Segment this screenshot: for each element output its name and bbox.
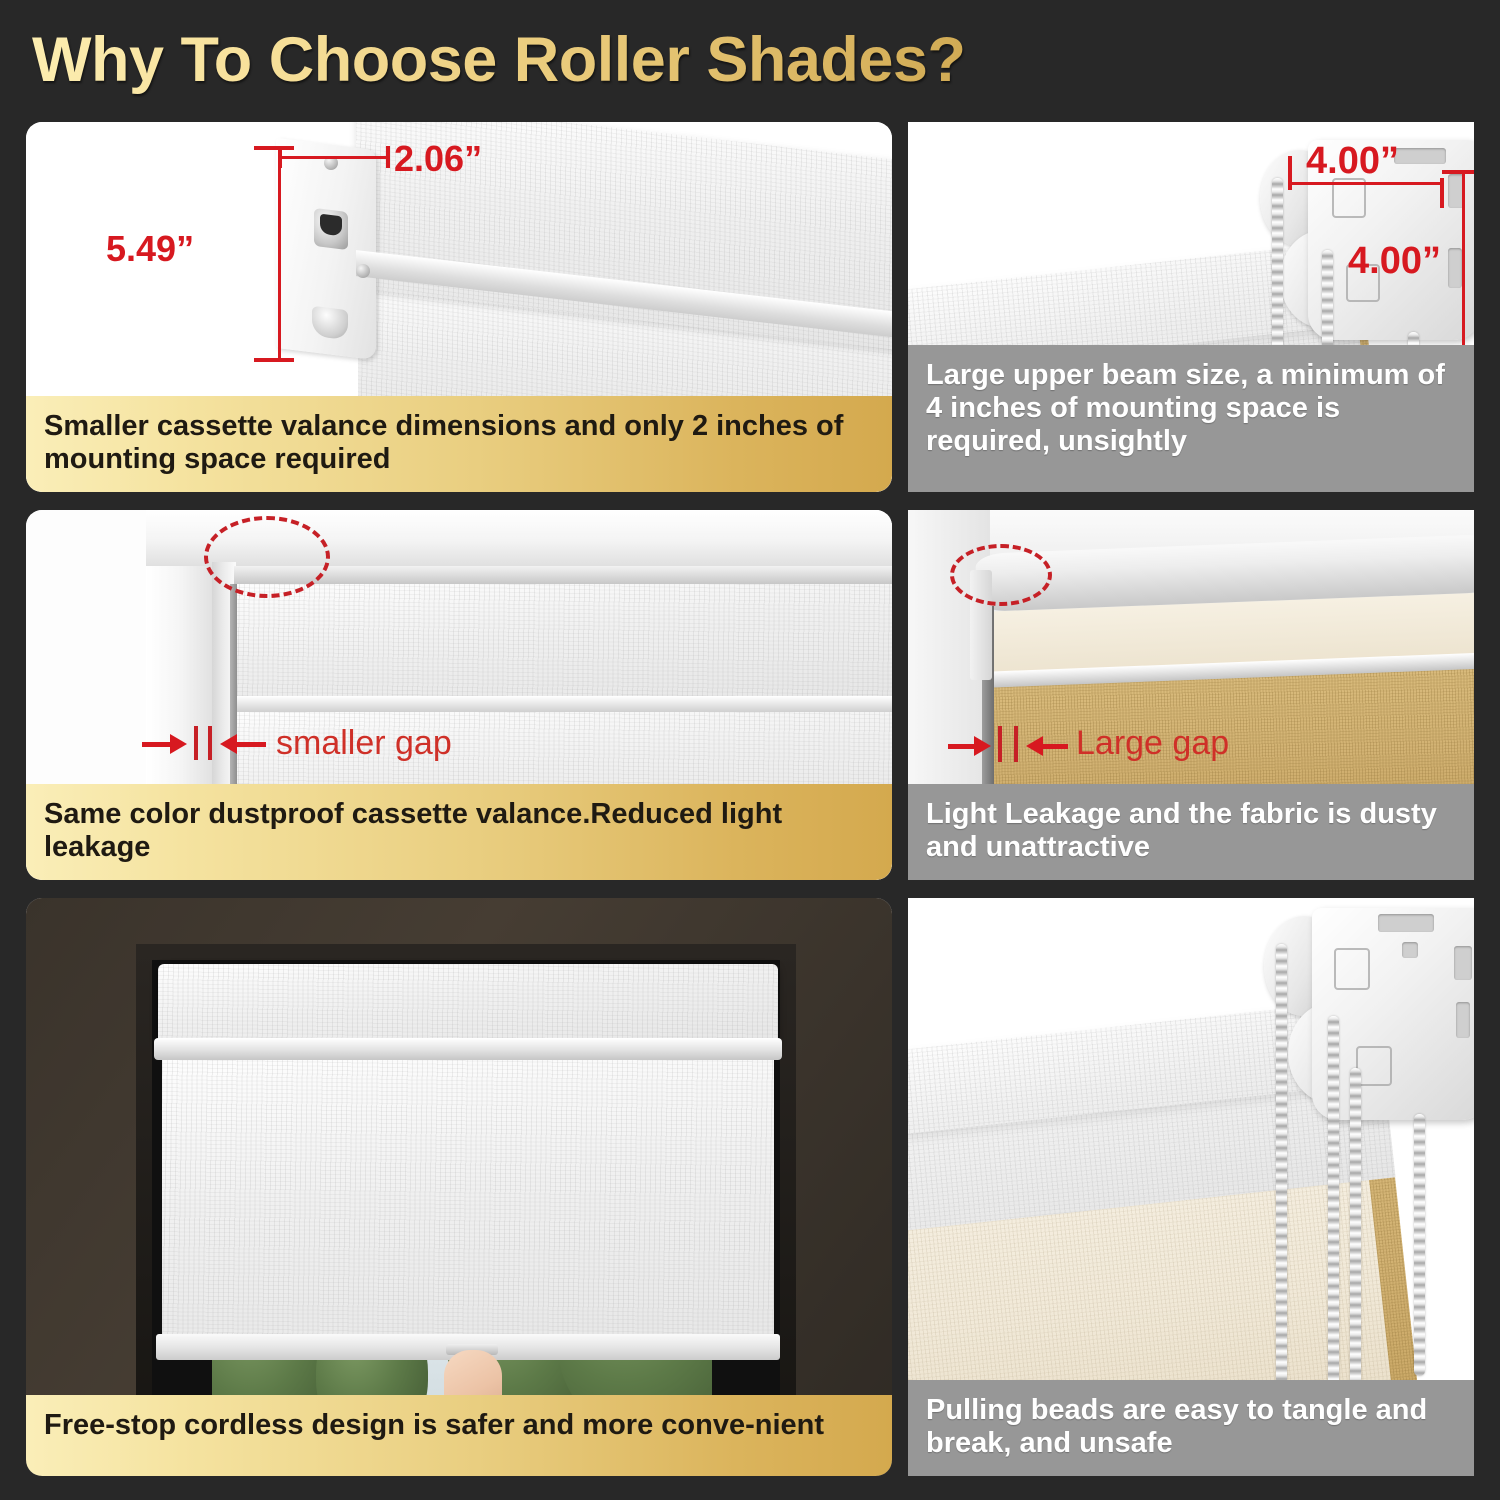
gap-arrow-right-tail [236,742,266,747]
hanging-bead-chain-1 [1276,944,1287,1384]
chain-bracket-slot-mid [1402,942,1418,958]
comparison-grid: 2.06” 5.49” Smaller cassette valance dim… [0,0,1500,1500]
roller-shade-fabric [162,1060,774,1356]
panel-1-caption: Smaller cassette valance dimensions and … [26,396,892,492]
height-dimension-label: 5.49” [106,228,194,270]
beam-width-label: 4.00” [1306,140,1399,183]
chain-bracket-emboss-upper [1334,948,1370,990]
bracket-slot-top [1394,148,1446,164]
beam-height-cap-top [1442,170,1474,174]
gap-tick-right [208,726,212,760]
beam-width-cap-right [1440,178,1444,208]
hanging-bead-chain-4 [1414,1114,1425,1376]
cassette-screw-mid [356,264,370,278]
gap-tick-left [194,726,198,760]
infographic-root: Why To Choose Roller Shades? 2.06” [0,0,1500,1500]
panel-small-gap: smaller gap Same color dustproof cassett… [26,510,892,880]
width-dimension-label: 2.06” [394,138,482,180]
bracket-slot-lower [1448,248,1462,288]
gap-arrow-right-head [220,734,237,754]
panel-2-caption: Large upper beam size, a minimum of 4 in… [908,345,1474,492]
gap-arrow-left-head [170,734,187,754]
panel-small-cassette: 2.06” 5.49” Smaller cassette valance dim… [26,122,892,492]
hanging-bead-chain-3 [1350,1068,1361,1388]
large-gap-label: Large gap [1076,724,1229,763]
large-gap-arrow-right-head [1026,736,1043,756]
beam-height-label: 4.00” [1348,240,1441,283]
panel-large-gap: Large gap Light Leakage and the fabric i… [908,510,1474,880]
height-dim-cap-bottom [254,358,294,362]
chain-bracket-emboss-lower [1356,1046,1392,1086]
large-gap-tick-right [1014,726,1018,762]
panel-cordless-room: Free-stop cordless design is safer and m… [26,898,892,1476]
shade-mid-rail [234,696,892,712]
cassette-valance [158,964,778,1044]
chain-bracket-slot-top [1378,914,1434,932]
valance-lip [154,1038,782,1060]
cassette-clutch-knob [314,208,348,250]
panel-large-beam: 4.00” 4.00” Large upper beam size, a min… [908,122,1474,492]
shade-fabric-upper [234,584,892,696]
height-dim-cap-top [254,146,294,150]
panel-3-caption: Same color dustproof cassette valance.Re… [26,784,892,880]
panel-5-caption: Free-stop cordless design is safer and m… [26,1395,892,1476]
panel-bead-chain: Pulling beads are easy to tangle and bre… [908,898,1474,1476]
panel-4-caption: Light Leakage and the fabric is dusty an… [908,784,1474,880]
height-dim-line [278,146,281,362]
beam-height-dim-line [1462,170,1465,356]
beam-width-cap-left [1288,156,1292,190]
panel-6-caption: Pulling beads are easy to tangle and bre… [908,1380,1474,1476]
large-gap-highlight-circle [950,544,1052,606]
gap-highlight-circle [204,516,330,598]
gap-arrow-left-tail [142,742,172,747]
chain-bracket-slot-lower [1456,1002,1470,1038]
chain-bracket-slot-right [1454,946,1472,980]
width-dim-cap-right [386,146,390,168]
hanging-bead-chain-2 [1328,1016,1339,1386]
large-gap-arrow-left-head [974,736,991,756]
photo-cordless-room [26,898,892,1476]
large-gap-tick-left [998,726,1002,762]
large-gap-arrow-left-tail [948,744,976,749]
large-gap-arrow-right-tail [1042,744,1068,749]
smaller-gap-label: smaller gap [276,724,452,763]
width-dim-line [278,156,390,159]
cassette-valance-rail [234,566,892,584]
